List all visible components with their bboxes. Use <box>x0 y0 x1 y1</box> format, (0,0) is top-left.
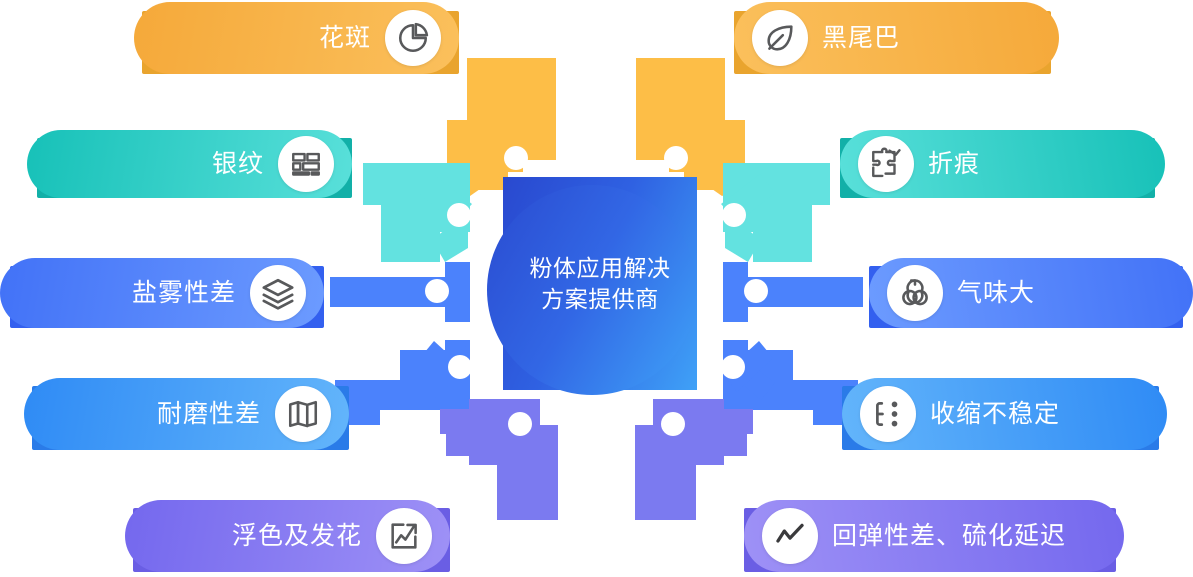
center-label-line2: 方案提供商 <box>541 284 659 314</box>
node-label: 气味大 <box>957 281 1035 306</box>
node-body: 折痕 <box>840 130 1165 198</box>
connector-arm-yanwuxingcha <box>330 262 470 322</box>
connector-arm-zhehen <box>721 163 830 262</box>
leaf-icon <box>752 10 808 66</box>
connector-dot <box>447 203 471 227</box>
node-shousuobuwending[interactable]: 收缩不稳定 <box>842 378 1167 450</box>
pie-chart-icon <box>385 10 441 66</box>
node-huaban[interactable]: 花斑 <box>134 2 459 74</box>
node-body: 耐磨性差 <box>24 378 349 450</box>
connector-dot <box>722 203 746 227</box>
node-zhehen[interactable]: 折痕 <box>840 130 1165 198</box>
center-label: 粉体应用解决 方案提供商 <box>503 177 697 390</box>
connector-dot <box>425 279 449 303</box>
node-huitanxingcha[interactable]: 回弹性差、硫化延迟 <box>744 500 1124 572</box>
sitemap-icon <box>860 386 916 442</box>
recycle-icon <box>887 265 943 321</box>
node-body: 银纹 <box>27 130 352 198</box>
node-body: 盐雾性差 <box>0 258 324 328</box>
node-body: 黑尾巴 <box>734 2 1059 74</box>
node-yinwen[interactable]: 银纹 <box>27 130 352 198</box>
node-body: 回弹性差、硫化延迟 <box>744 500 1124 572</box>
node-yanwuxingcha[interactable]: 盐雾性差 <box>0 258 324 328</box>
node-label: 收缩不稳定 <box>930 402 1060 427</box>
node-label: 黑尾巴 <box>822 26 900 51</box>
node-body: 气味大 <box>869 258 1193 328</box>
node-label: 花斑 <box>319 26 371 51</box>
layers-icon <box>250 265 306 321</box>
connector-dot <box>504 146 528 170</box>
node-label: 浮色及发花 <box>232 524 362 549</box>
diagram-canvas: 粉体应用解决 方案提供商 花斑 黑尾巴 <box>0 0 1193 577</box>
trending-up-box-icon <box>376 508 432 564</box>
node-fusejifahua[interactable]: 浮色及发花 <box>125 500 450 572</box>
connector-arm-huitanxingcha <box>635 399 753 520</box>
connector-arm-qiweida <box>723 262 863 322</box>
node-label: 回弹性差、硫化延迟 <box>832 524 1066 549</box>
connector-dot <box>448 355 472 379</box>
brick-wall-icon <box>278 136 334 192</box>
connector-arm-yinwen <box>363 163 472 262</box>
center-label-line1: 粉体应用解决 <box>530 253 671 283</box>
connector-dot <box>664 146 688 170</box>
open-book-icon <box>275 386 331 442</box>
line-chart-icon <box>762 508 818 564</box>
node-label: 银纹 <box>212 152 264 177</box>
node-qiweida[interactable]: 气味大 <box>869 258 1193 328</box>
node-heiweiba[interactable]: 黑尾巴 <box>734 2 1059 74</box>
node-label: 盐雾性差 <box>132 281 236 306</box>
node-body: 浮色及发花 <box>125 500 450 572</box>
connector-arm-fusejifahua <box>440 399 558 520</box>
node-label: 折痕 <box>928 152 980 177</box>
node-naimoxingcha[interactable]: 耐磨性差 <box>24 378 349 450</box>
connector-dot <box>508 412 532 436</box>
puzzle-piece-icon <box>858 136 914 192</box>
node-label: 耐磨性差 <box>157 402 261 427</box>
connector-dot <box>744 279 768 303</box>
center-hub: 粉体应用解决 方案提供商 <box>503 177 697 390</box>
node-body: 花斑 <box>134 2 459 74</box>
connector-dot <box>661 412 685 436</box>
connector-dot <box>721 355 745 379</box>
node-body: 收缩不稳定 <box>842 378 1167 450</box>
